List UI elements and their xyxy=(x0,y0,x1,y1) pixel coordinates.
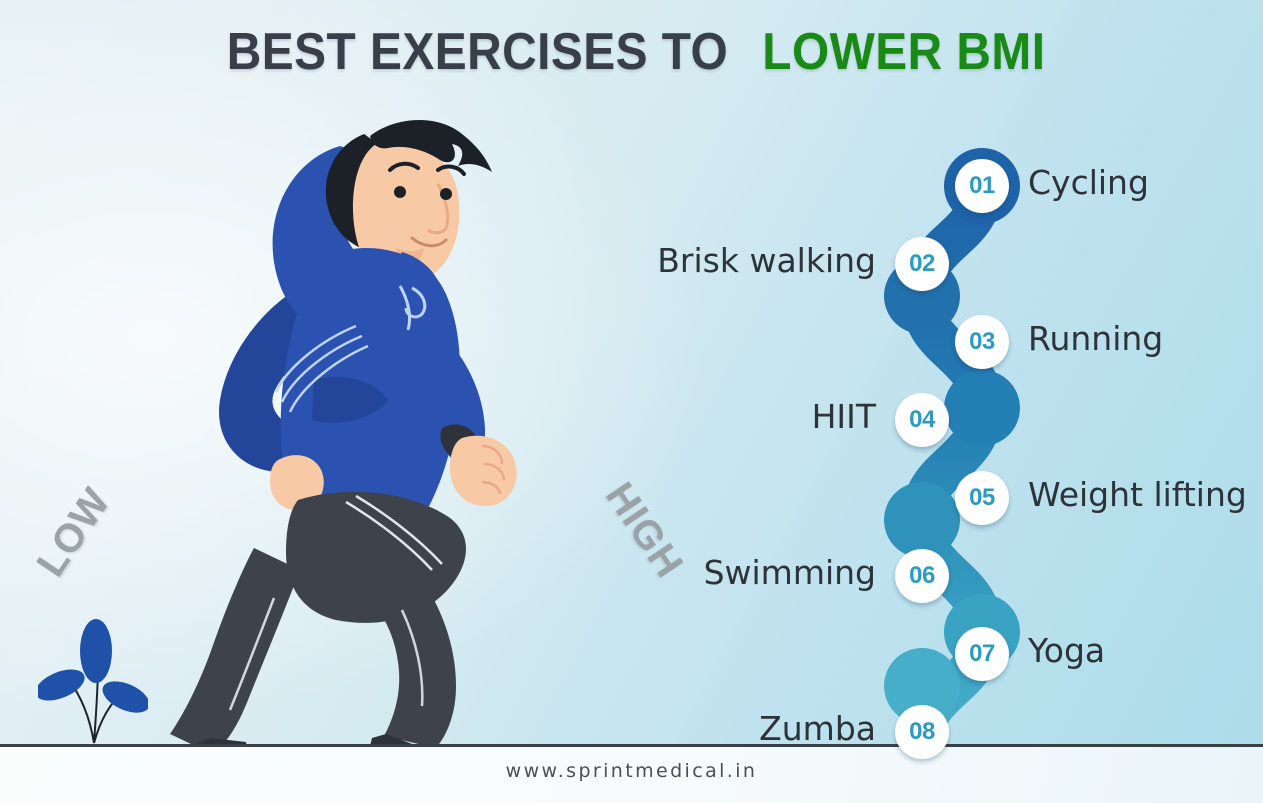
list-item-label: Cycling xyxy=(1028,163,1149,202)
list-item-number-badge: 06 xyxy=(895,549,949,603)
website-url: www.sprintmedical.in xyxy=(0,760,1263,782)
runner-leg-front xyxy=(364,580,456,748)
title-part-primary: BEST EXERCISES TO xyxy=(227,22,728,82)
ribbon-blob-3 xyxy=(944,370,1020,446)
plant-decoration xyxy=(38,615,148,750)
ribbon-blob-4 xyxy=(884,482,960,558)
list-item-number-badge: 03 xyxy=(955,315,1009,369)
exercise-list: 01Cycling02Brisk walking03Running04HIIT0… xyxy=(640,130,1263,740)
runner-leg-back xyxy=(170,548,300,754)
list-ribbon xyxy=(640,130,1263,740)
list-item-number-badge: 05 xyxy=(955,471,1009,525)
list-item-number-badge: 04 xyxy=(895,393,949,447)
list-item-label: Yoga xyxy=(1028,631,1105,670)
list-item-number-badge: 07 xyxy=(955,627,1009,681)
list-item-number-badge: 02 xyxy=(895,237,949,291)
list-item-label: Swimming xyxy=(704,553,876,592)
plant-leaf-top xyxy=(80,619,112,683)
title-part-accent: LOWER BMI xyxy=(762,22,1045,82)
list-item-label: Running xyxy=(1028,319,1163,358)
list-item-number-badge: 08 xyxy=(895,705,949,759)
runner-eye-right xyxy=(440,188,452,200)
list-item-label: HIIT xyxy=(812,397,876,436)
list-item-label: Brisk walking xyxy=(657,241,876,280)
list-item-label: Zumba xyxy=(759,709,876,748)
list-item-number-badge: 01 xyxy=(955,159,1009,213)
page-title: BEST EXERCISES TO LOWER BMI xyxy=(0,22,1263,82)
runner-eye-left xyxy=(394,186,406,198)
list-item-label: Weight lifting xyxy=(1028,475,1247,514)
runner-illustration xyxy=(150,100,570,760)
infographic-canvas: BEST EXERCISES TO LOWER BMI xyxy=(0,0,1263,803)
